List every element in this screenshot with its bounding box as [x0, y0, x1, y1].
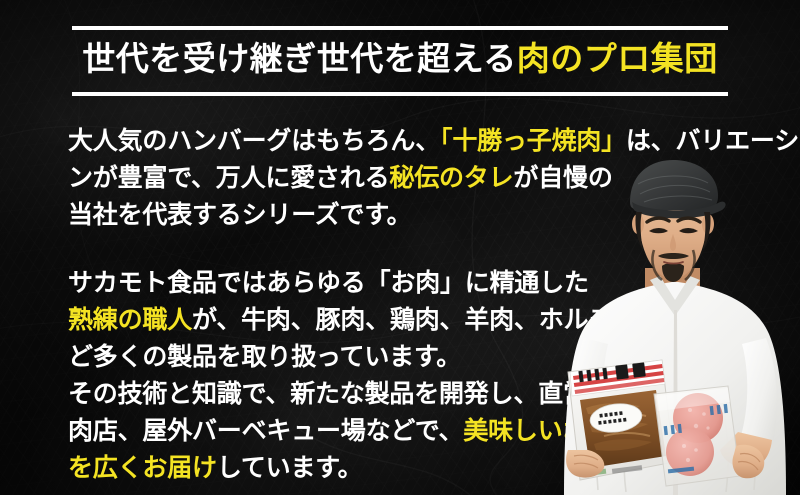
- p2-l2-highlight: 熟練の職人: [68, 305, 192, 334]
- craftsman-illustration: [550, 150, 800, 495]
- page-title: 世代を受け継ぎ世代を超える肉のプロ集団: [0, 36, 800, 82]
- cap-crown: [630, 160, 718, 210]
- meat-brand-banner: 世代を受け継ぎ世代を超える肉のプロ集団 大人気のハンバーグはもちろん、「十勝っ子…: [0, 0, 800, 495]
- page-title-yellow-part: 肉のプロ集団: [517, 39, 718, 78]
- craftsman-photo: [550, 150, 800, 495]
- p1-l2-text-a: ンが豊富で、万人に愛される: [68, 163, 389, 192]
- product-package-hamburg: [654, 386, 740, 486]
- header: 世代を受け継ぎ世代を超える肉のプロ集団: [0, 26, 800, 96]
- header-rule-top: [72, 26, 728, 30]
- p2-l6-text-b: しています。: [217, 453, 363, 482]
- p1-l1-text-a: 大人気のハンバーグはもちろん、: [68, 126, 440, 155]
- page-title-white-part: 世代を受け継ぎ世代を超える: [82, 39, 517, 78]
- p2-l5-text-a: 肉店、屋外バーベキュー場などで、: [68, 416, 463, 445]
- p2-l6-highlight: を広くお届け: [68, 453, 217, 482]
- header-rule-bottom: [72, 92, 728, 96]
- p1-l2-highlight: 秘伝のタレ: [389, 163, 513, 192]
